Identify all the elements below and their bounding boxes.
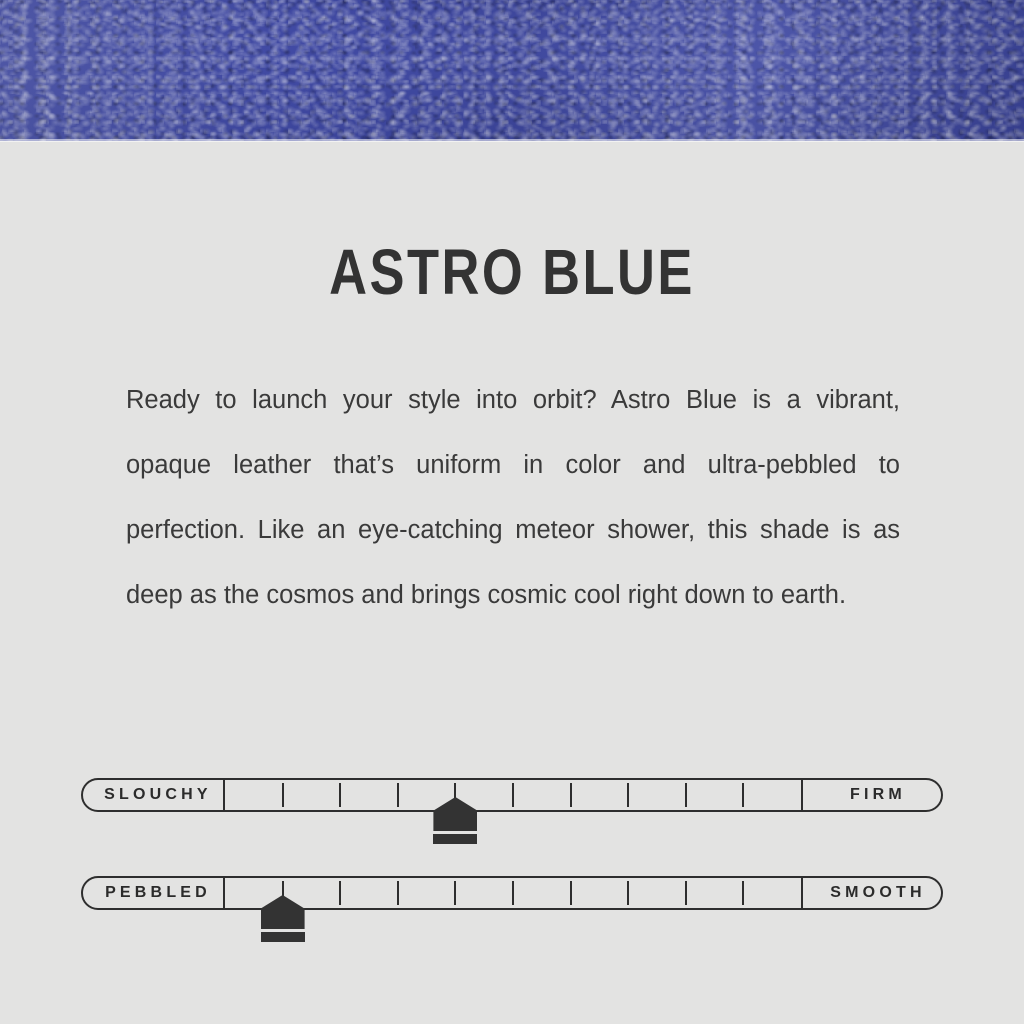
scale-tick [685,881,687,905]
scale-tick [742,881,744,905]
scale-texture[interactable]: PEBBLED SMOOTH [81,876,943,910]
scale-left-label: SLOUCHY [81,778,225,812]
attribute-scales: SLOUCHY FIRM PEBBLED SMOOTH [0,0,1024,1024]
scale-left-label-text: SLOUCHY [104,786,212,804]
scale-tick [339,783,341,807]
scale-tick [570,881,572,905]
scale-right-label: SMOOTH [801,876,943,910]
scale-right-label-text: FIRM [850,786,906,804]
scale-tick [627,881,629,905]
scale-tick [397,881,399,905]
scale-ticks [225,876,801,910]
scale-tick [627,783,629,807]
scale-ticks [225,778,801,812]
scale-tick [454,881,456,905]
scale-tick [570,783,572,807]
scale-tick [742,783,744,807]
scale-tick [512,881,514,905]
scale-tick [685,783,687,807]
marker-base-icon [261,932,305,942]
scale-tick [454,783,456,807]
scale-tick [282,881,284,905]
marker-base-icon [433,834,477,844]
scale-tick [397,783,399,807]
scale-right-label: FIRM [801,778,943,812]
scale-tick [512,783,514,807]
scale-left-label: PEBBLED [81,876,225,910]
scale-structure[interactable]: SLOUCHY FIRM [81,778,943,812]
scale-left-label-text: PEBBLED [105,884,211,902]
scale-right-label-text: SMOOTH [830,884,925,902]
scale-tick [339,881,341,905]
scale-tick [282,783,284,807]
